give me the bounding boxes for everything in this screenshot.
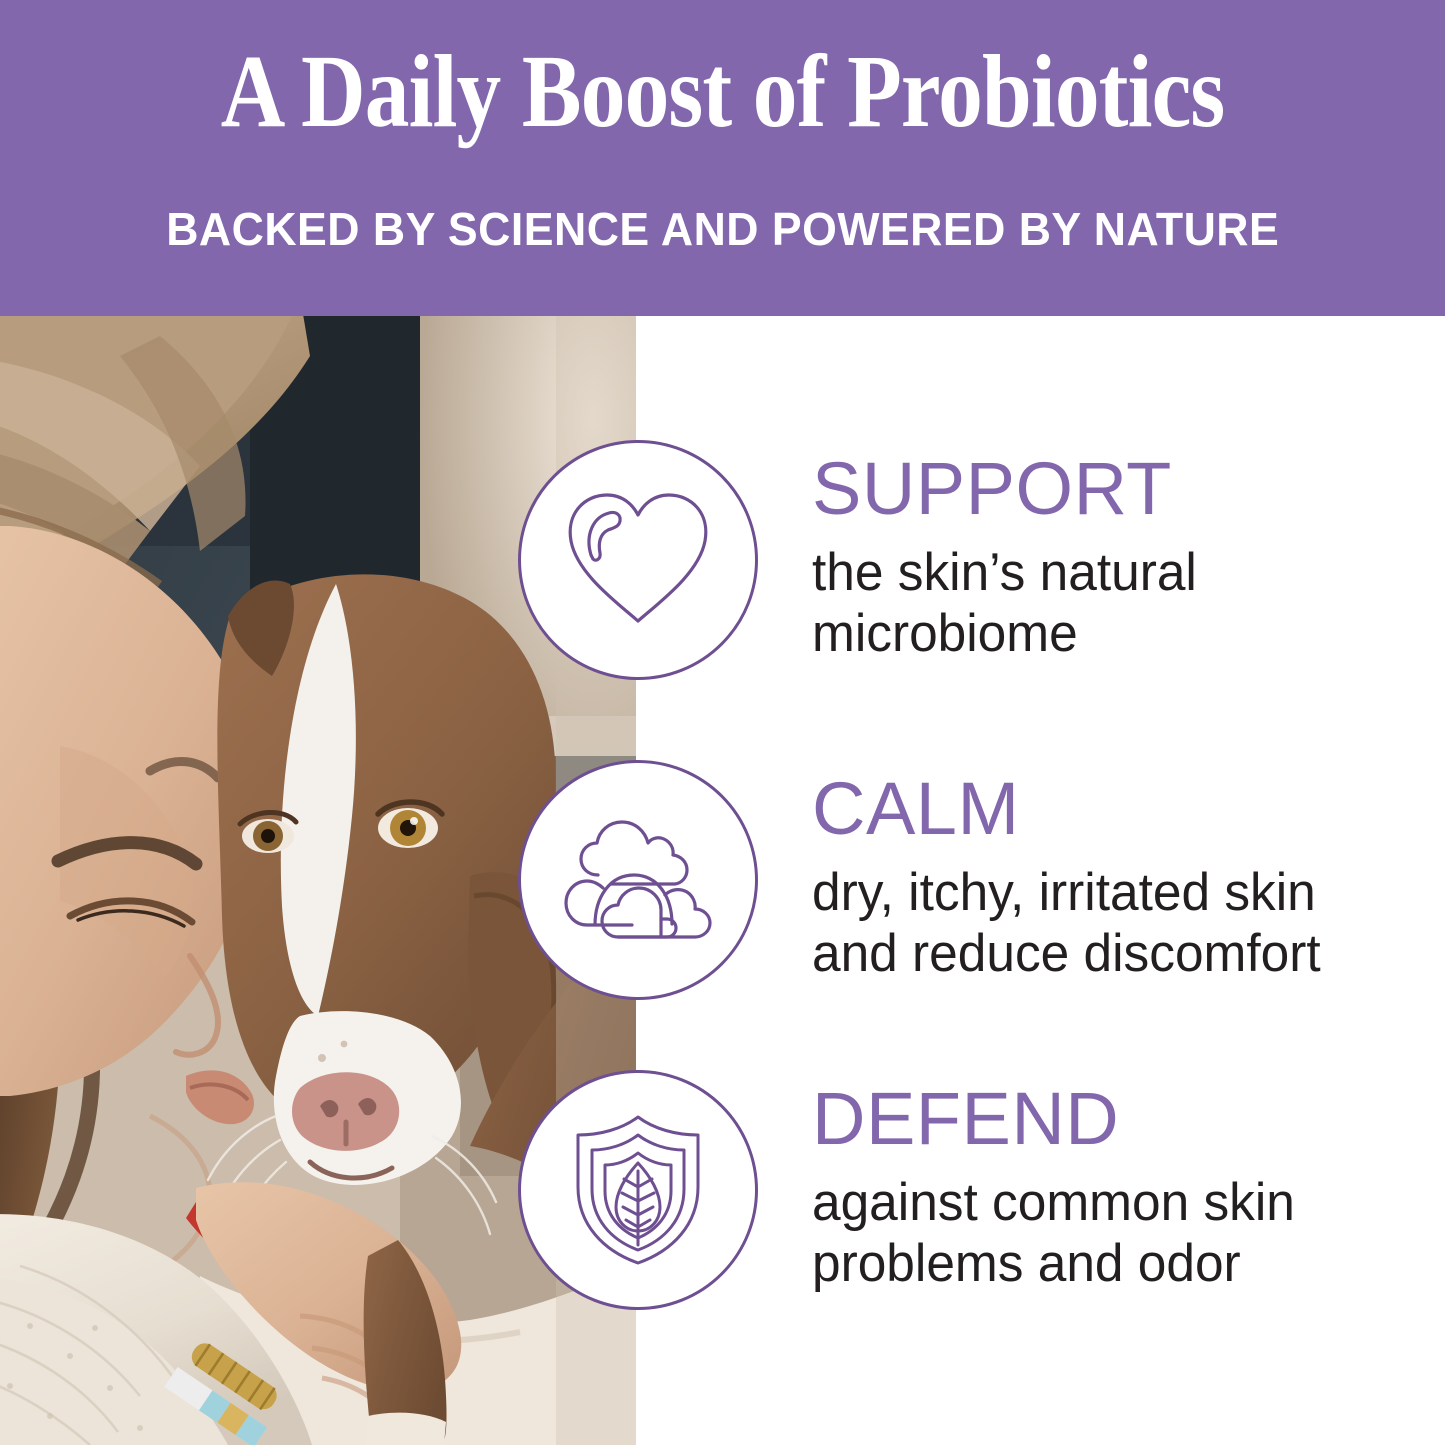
benefit-item-calm: CALM dry, itchy, irritated skin and redu… (518, 760, 1445, 1000)
benefit-heading-defend: DEFEND (812, 1082, 1445, 1156)
benefits-list: SUPPORT the skin’s natural microbiome (518, 316, 1445, 1445)
benefit-text-defend: DEFEND against common skin problems and … (758, 1082, 1445, 1299)
clouds-icon (518, 760, 758, 1000)
page-title: A Daily Boost of Probiotics (221, 40, 1225, 144)
probiotics-infographic: A Daily Boost of Probiotics BACKED BY SC… (0, 0, 1445, 1445)
benefit-body-support: the skin’s natural microbiome (812, 542, 1413, 665)
benefit-body-calm: dry, itchy, irritated skin and reduce di… (812, 862, 1413, 985)
page-subtitle: BACKED BY SCIENCE AND POWERED BY NATURE (166, 206, 1279, 252)
benefit-body-line: against common skin (812, 1172, 1413, 1233)
benefit-item-defend: DEFEND against common skin problems and … (518, 1070, 1445, 1310)
header-band: A Daily Boost of Probiotics BACKED BY SC… (0, 0, 1445, 316)
benefit-heading-calm: CALM (812, 772, 1445, 846)
benefit-body-line: and reduce discomfort (812, 923, 1413, 984)
shield-leaf-icon (518, 1070, 758, 1310)
benefit-body-line: problems and odor (812, 1233, 1413, 1294)
benefit-text-calm: CALM dry, itchy, irritated skin and redu… (758, 772, 1445, 989)
benefit-body-line: microbiome (812, 603, 1413, 664)
benefit-item-support: SUPPORT the skin’s natural microbiome (518, 440, 1445, 680)
benefit-body-defend: against common skin problems and odor (812, 1172, 1413, 1295)
benefit-heading-support: SUPPORT (812, 452, 1445, 526)
benefit-body-line: the skin’s natural (812, 542, 1413, 603)
benefit-text-support: SUPPORT the skin’s natural microbiome (758, 452, 1445, 669)
benefit-body-line: dry, itchy, irritated skin (812, 862, 1413, 923)
heart-icon (518, 440, 758, 680)
